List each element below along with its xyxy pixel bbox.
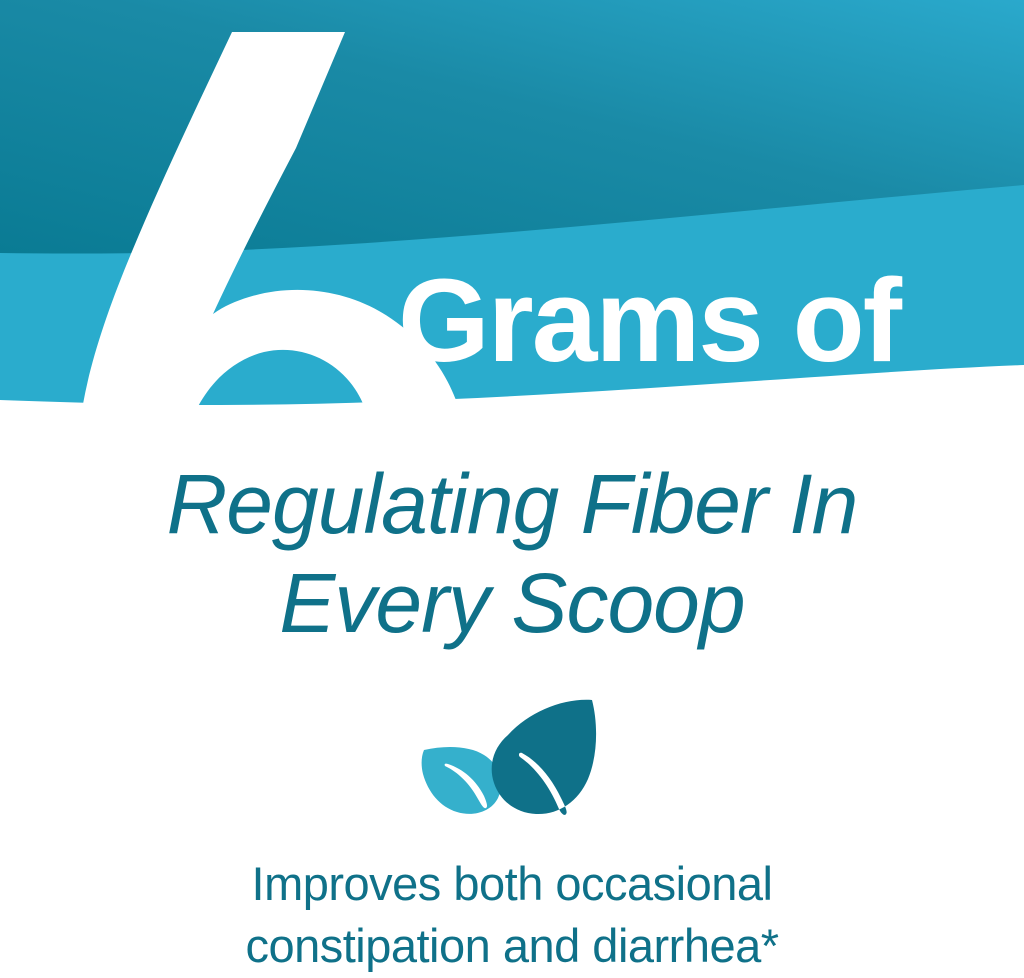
main-heading-line-2: Every Scoop	[0, 554, 1024, 653]
main-heading: Regulating Fiber In Every Scoop	[0, 455, 1024, 653]
fiber-product-poster: Grams of Regulating Fiber In Every Scoop…	[0, 0, 1024, 978]
sub-copy-line-1: Improves both occasional	[0, 853, 1024, 915]
two-leaf-icon	[412, 695, 617, 820]
sub-copy: Improves both occasional constipation an…	[0, 853, 1024, 977]
sub-copy-line-2: constipation and diarrhea*	[0, 915, 1024, 977]
band-headline: Grams of	[398, 262, 958, 380]
main-heading-line-1: Regulating Fiber In	[0, 455, 1024, 554]
